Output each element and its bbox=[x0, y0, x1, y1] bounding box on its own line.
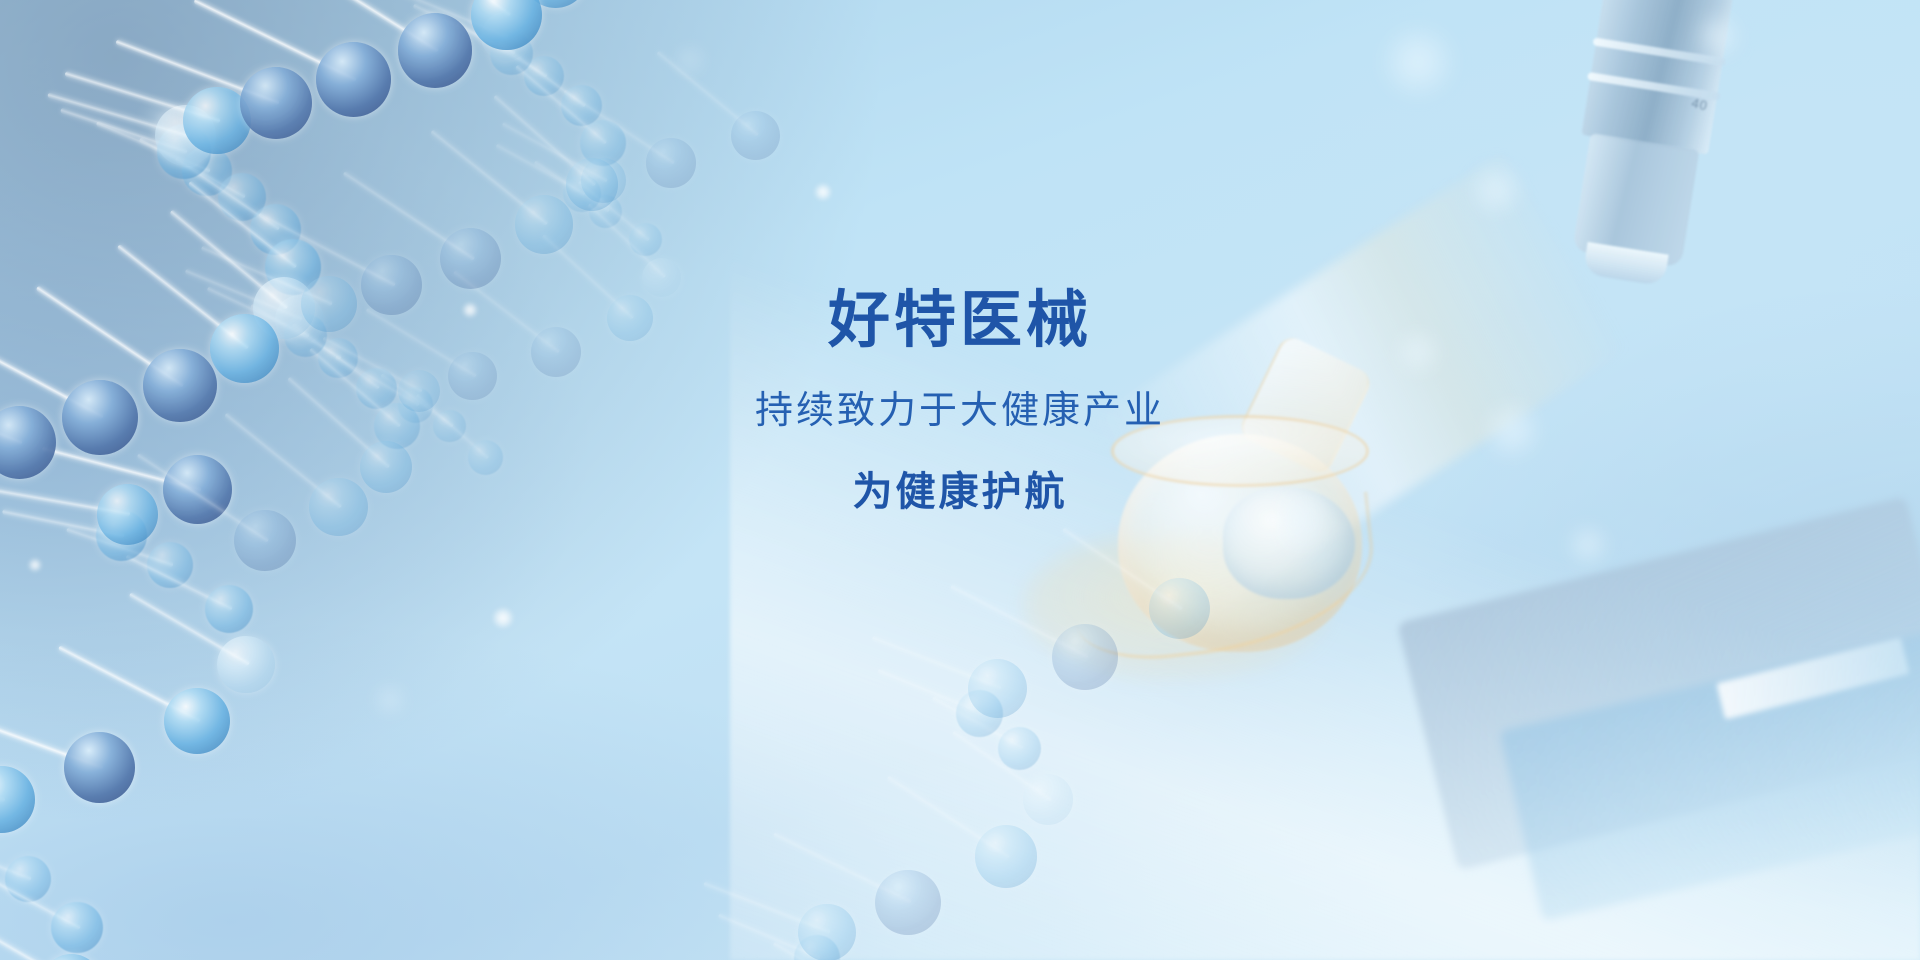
banner-subtitle: 持续致力于大健康产业 bbox=[755, 392, 1165, 430]
banner-content: 好特医械 持续致力于大健康产业 为健康护航 bbox=[0, 0, 1920, 960]
banner-tagline: 为健康护航 bbox=[853, 472, 1068, 512]
banner-title: 好特医械 bbox=[828, 290, 1092, 352]
hero-banner: 40 好特医械 持续致力于大健康产业 为健康护航 bbox=[0, 0, 1920, 960]
